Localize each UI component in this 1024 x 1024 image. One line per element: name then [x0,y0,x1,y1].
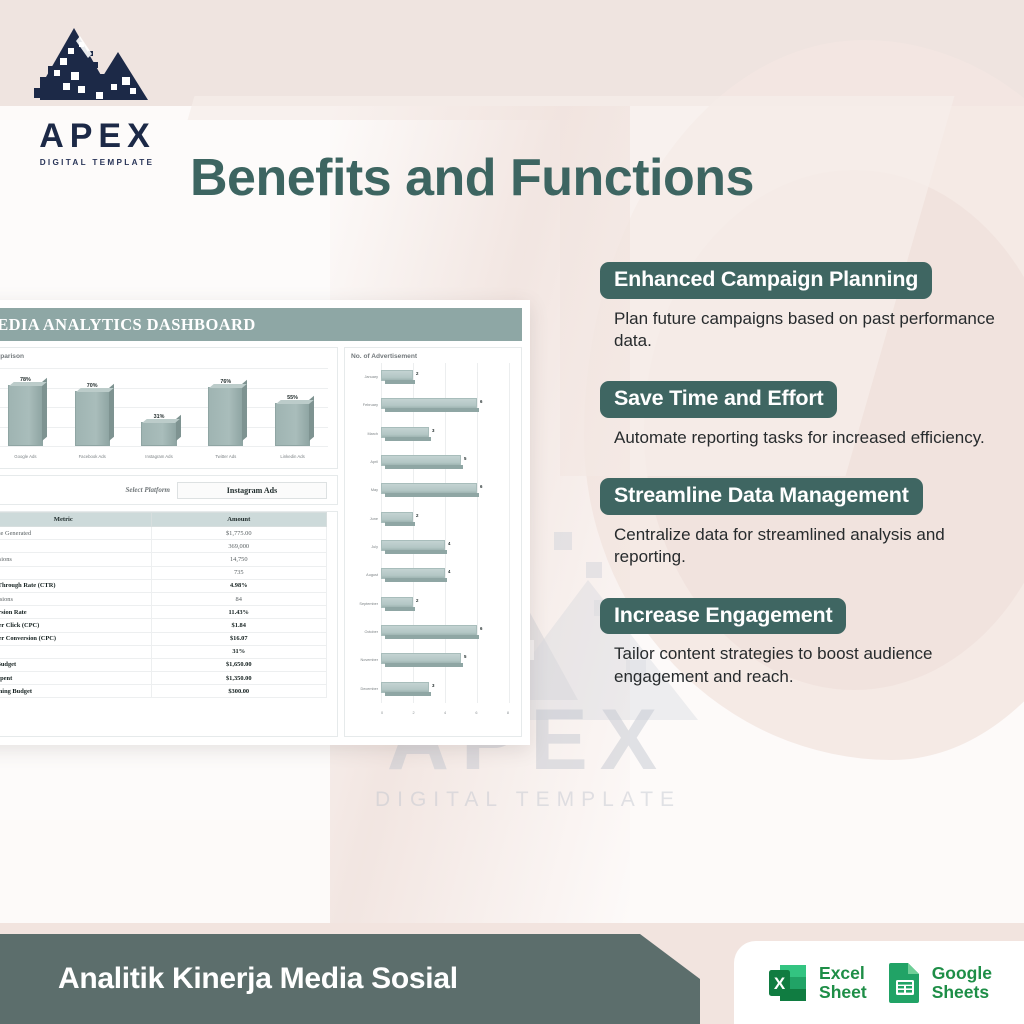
y-tick-label: April [351,460,381,464]
cell-metric: Conversion Rate [0,606,151,619]
cell-metric: Total Spent [0,672,151,685]
bar: 78% [8,385,43,446]
roi-x-labels: Google AdsFacebook AdsInstagram AdsTwitt… [0,454,326,459]
y-tick-label: February [351,403,381,407]
benefits-list: Enhanced Campaign Planning Plan future c… [600,262,1020,717]
benefit-description: Tailor content strategies to boost audie… [600,643,1020,688]
cell-metric: ROI [0,645,151,658]
bar-value-label: 3 [432,683,434,688]
adv-row: January2 [351,367,509,387]
bar-value-label: 6 [480,399,482,404]
benefit-title: Increase Engagement [600,598,846,635]
bar-slot: 55% [268,368,318,446]
gridline [509,363,510,703]
bar-value-label: 78% [9,377,42,383]
google-badge-line2: Sheets [932,983,992,1001]
bar [381,568,445,579]
brand-name: APEX [20,119,170,153]
x-tick-label: 0 [381,711,383,715]
bar-value-label: 4 [448,541,450,546]
bar-track: 3 [381,424,509,444]
table-row: Clicks735 [0,566,327,579]
cell-metric: Cost per Click (CPC) [0,619,151,632]
column-header-amount: Amount [151,513,327,527]
benefit-description: Automate reporting tasks for increased e… [600,427,1020,449]
dashboard-title: SOCIAL MEDIA ANALYTICS DASHBOARD [0,315,256,335]
bar-track: 6 [381,622,509,642]
benefit-description: Plan future campaigns based on past perf… [600,308,1020,353]
table-row: Remaining Budget$300.00 [0,685,327,698]
x-tick-label: Facebook Ads [67,454,117,459]
page-title: Benefits and Functions [190,148,754,208]
x-tick-label: 8 [507,711,509,715]
footer-banner: Analitik Kinerja Media Sosial [0,934,700,1024]
y-tick-label: May [351,488,381,492]
cell-amount: 369,000 [151,540,327,553]
bar [381,512,413,523]
cell-amount: 735 [151,566,327,579]
adv-bar-rows: January2February6March3April5May6June2Ju… [351,363,509,703]
y-tick-label: October [351,630,381,634]
bar-track: 4 [381,565,509,585]
y-tick-label: March [351,432,381,436]
table-header-row: Metric Amount [0,513,327,527]
advertisement-column: No. of Advertisement January2February6Ma… [344,347,522,737]
bar [381,540,445,551]
y-tick-label: September [351,602,381,606]
bar-slot: 78% [0,368,50,446]
cell-amount: $300.00 [151,685,327,698]
adv-plot-area: January2February6March3April5May6June2Ju… [351,363,515,715]
adv-row: August4 [351,565,509,585]
dashboard-screenshot: SOCIAL MEDIA ANALYTICS DASHBOARD ADS IMP… [0,300,530,745]
roi-chart-title: ROI Comparison [0,353,330,360]
bar [381,597,413,608]
table-row: Cost per Click (CPC)$1.84 [0,619,327,632]
benefit-description: Centralize data for streamlined analysis… [600,524,1020,569]
cell-amount: $16.07 [151,632,327,645]
gridline [0,446,328,447]
select-platform-dropdown[interactable]: Instagram Ads [177,482,327,499]
excel-badge-line2: Sheet [819,983,867,1001]
benefit-title: Enhanced Campaign Planning [600,262,932,299]
cell-metric: Remaining Budget [0,685,151,698]
adv-chart-title: No. of Advertisement [351,353,515,360]
bar-slot: 70% [67,368,117,446]
format-badges: X Excel Sheet Google Sheets [734,941,1024,1024]
cell-amount: 84 [151,592,327,605]
adv-row: May6 [351,480,509,500]
bar-value-label: 5 [464,654,466,659]
cell-amount: 11.43% [151,606,327,619]
cell-metric: Clicks [0,566,151,579]
benefit-title: Save Time and Effort [600,381,837,418]
bar-value-label: 2 [416,371,418,376]
select-platform-row: Select Platform Instagram Ads [0,475,338,505]
select-platform-label: Select Platform [125,486,170,494]
table-row: Conversion Rate11.43% [0,606,327,619]
benefit-title: Streamline Data Management [600,478,923,515]
adv-row: April5 [351,452,509,472]
bar [381,427,429,438]
bar-value-label: 4 [448,569,450,574]
cell-metric: Cost per Conversion (CPC) [0,632,151,645]
adv-row: November5 [351,650,509,670]
bar-slot: 76% [201,368,251,446]
excel-icon: X [766,961,810,1005]
bar-track: 2 [381,509,509,529]
y-tick-label: July [351,545,381,549]
dashboard-center-column: ROI Comparison 78%70%31%76%55% Google Ad… [0,347,338,737]
x-tick-label: Google Ads [0,454,50,459]
bar-track: 4 [381,537,509,557]
cell-amount: $1,650.00 [151,658,327,671]
adv-row: June2 [351,509,509,529]
roi-plot-area: 78%70%31%76%55% Google AdsFacebook AdsIn… [0,362,330,462]
bar-value-label: 6 [480,484,482,489]
x-tick-label: 6 [475,711,477,715]
bar-value-label: 55% [276,395,309,401]
adv-row: July4 [351,537,509,557]
x-tick-label: Linkedin Ads [268,454,318,459]
cell-metric: Impressions [0,553,151,566]
x-tick-label: 4 [444,711,446,715]
roi-comparison-chart: ROI Comparison 78%70%31%76%55% Google Ad… [0,347,338,469]
adv-row: December3 [351,679,509,699]
excel-badge: X Excel Sheet [766,961,867,1005]
column-header-metric: Metric [0,513,151,527]
table-row: ROI31% [0,645,327,658]
bar: 55% [275,403,310,446]
bar-value-label: 70% [76,383,109,389]
bar-track: 2 [381,367,509,387]
cell-amount: 31% [151,645,327,658]
footer-banner-text: Analitik Kinerja Media Sosial [0,962,458,996]
bar-value-label: 31% [142,414,175,420]
adv-row: February6 [351,395,509,415]
bar [381,483,477,494]
y-tick-label: June [351,517,381,521]
brand-logo: APEX DIGITAL TEMPLATE [20,22,170,167]
cell-metric: Conversions [0,592,151,605]
x-tick-label: 2 [412,711,414,715]
cell-metric: Click-Through Rate (CTR) [0,579,151,592]
cell-amount: $1.84 [151,619,327,632]
cell-amount: 4.98% [151,579,327,592]
metric-table-panel: Metric Amount Revenue Generated$1,775.00… [0,511,338,737]
adv-row: March3 [351,424,509,444]
table-row: Conversions84 [0,592,327,605]
adv-x-axis: 02468 [381,711,509,715]
slide-canvas: APEX DIGITAL TEMPLATE Benefits and Funct… [0,0,1024,1024]
x-tick-label: Twitter Ads [201,454,251,459]
cell-amount: $1,775.00 [151,527,327,540]
bar-slot: 31% [134,368,184,446]
table-row: Reach369,000 [0,540,327,553]
metric-table-body: Revenue Generated$1,775.00Reach369,000Im… [0,527,327,698]
bar [381,625,477,636]
bar: 70% [75,391,110,446]
table-row: Total Budget$1,650.00 [0,658,327,671]
x-tick-label: Instagram Ads [134,454,184,459]
bar-track: 6 [381,395,509,415]
google-badge-line1: Google [932,964,992,982]
svg-text:X: X [774,974,786,993]
excel-badge-line1: Excel [819,964,867,982]
bar-value-label: 3 [432,428,434,433]
cell-metric: Revenue Generated [0,527,151,540]
bar-track: 2 [381,594,509,614]
table-row: Cost per Conversion (CPC)$16.07 [0,632,327,645]
google-sheets-icon [887,961,923,1005]
google-sheets-badge: Google Sheets [887,961,992,1005]
table-row: Total Spent$1,350.00 [0,672,327,685]
adv-row: September2 [351,594,509,614]
table-row: Impressions14,750 [0,553,327,566]
bar [381,653,461,664]
adv-row: October6 [351,622,509,642]
brand-tagline: DIGITAL TEMPLATE [20,158,170,167]
bar-track: 5 [381,452,509,472]
table-row: Click-Through Rate (CTR)4.98% [0,579,327,592]
bar: 31% [141,422,176,446]
benefit-item: Save Time and Effort Automate reporting … [600,381,1020,449]
bar-value-label: 6 [480,626,482,631]
mountain-pixel-logo-icon [30,22,160,117]
y-tick-label: August [351,573,381,577]
y-tick-label: December [351,687,381,691]
bar-track: 6 [381,480,509,500]
roi-bars: 78%70%31%76%55% [0,368,326,446]
dashboard-header: SOCIAL MEDIA ANALYTICS DASHBOARD [0,308,522,341]
google-sheets-badge-text: Google Sheets [932,964,992,1000]
bar: 76% [208,387,243,446]
y-tick-label: January [351,375,381,379]
bar-track: 3 [381,679,509,699]
cell-amount: $1,350.00 [151,672,327,685]
benefit-item: Streamline Data Management Centralize da… [600,478,1020,568]
bar-value-label: 2 [416,513,418,518]
excel-badge-text: Excel Sheet [819,964,867,1000]
cell-amount: 14,750 [151,553,327,566]
table-row: Revenue Generated$1,775.00 [0,527,327,540]
bar-value-label: 2 [416,598,418,603]
metric-table: Metric Amount Revenue Generated$1,775.00… [0,512,327,698]
y-tick-label: November [351,658,381,662]
dashboard-body: ADS IMPRESSION 4,750 REACH 369,000 CLICK… [0,341,530,745]
bar [381,455,461,466]
bar [381,398,477,409]
benefit-item: Increase Engagement Tailor content strat… [600,598,1020,688]
bar-track: 5 [381,650,509,670]
bar [381,682,429,693]
cell-metric: Reach [0,540,151,553]
cell-metric: Total Budget [0,658,151,671]
bar-value-label: 76% [209,379,242,385]
no-of-advertisement-chart: No. of Advertisement January2February6Ma… [344,347,522,737]
benefit-item: Enhanced Campaign Planning Plan future c… [600,262,1020,352]
bar-value-label: 5 [464,456,466,461]
bar [381,370,413,381]
